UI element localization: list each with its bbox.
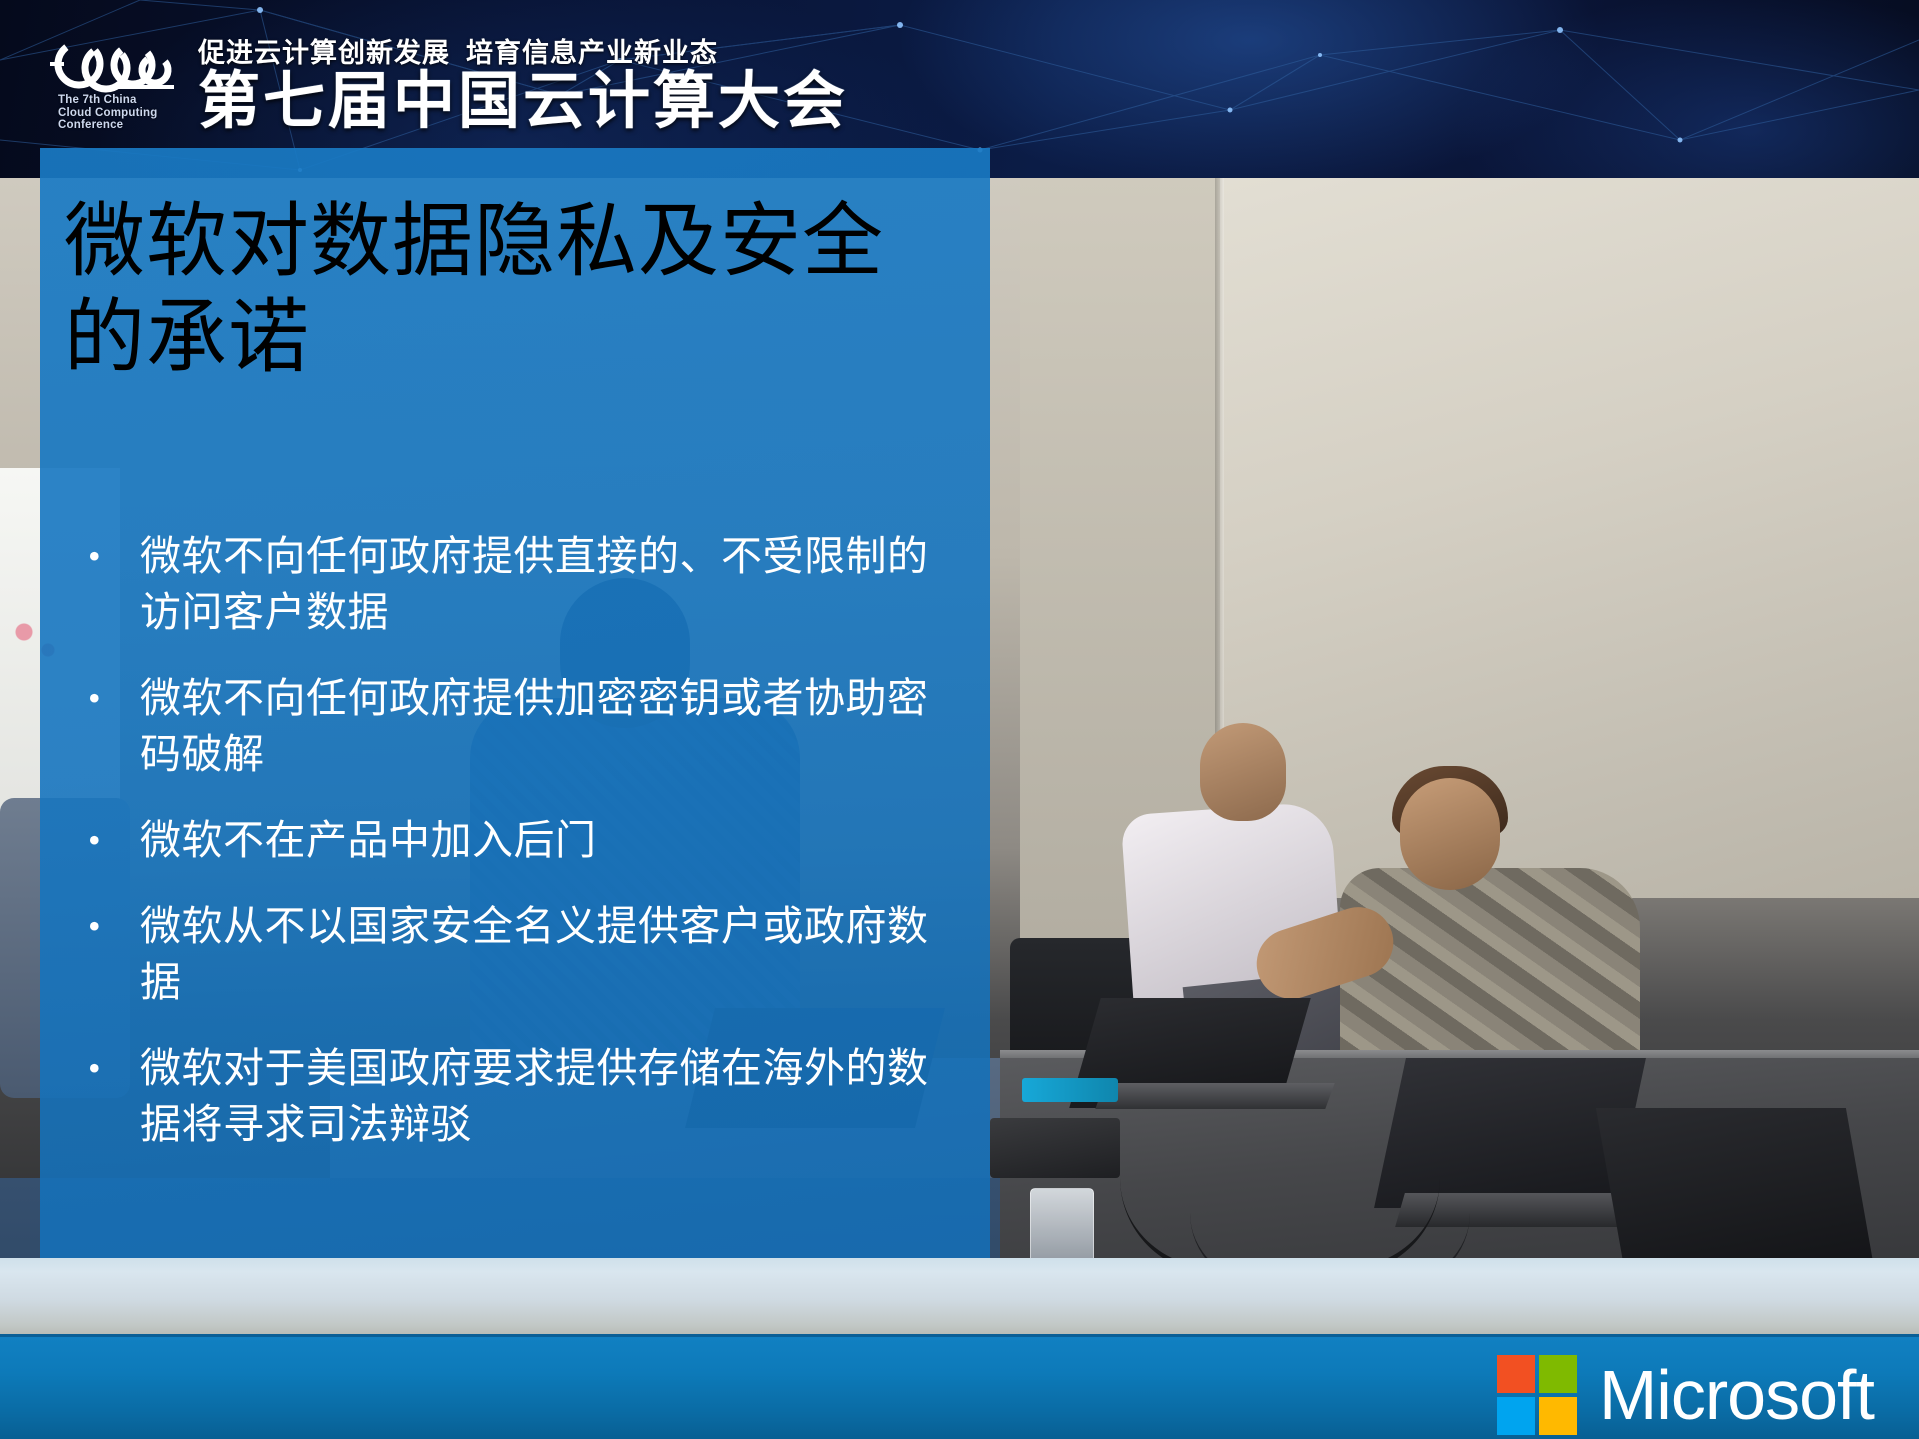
list-item: • 微软不向任何政府提供直接的、不受限制的访问客户数据 [88, 528, 968, 640]
bullet-marker-icon: • [88, 528, 140, 584]
ccc-sub-line-1: The 7th China [58, 94, 157, 107]
photo-teal-folder [1022, 1078, 1118, 1102]
photo-wall-right [1220, 178, 1919, 898]
bullet-text: 微软不在产品中加入后门 [140, 812, 597, 868]
photo-cable-2 [1190, 1213, 1470, 1258]
microsoft-logo: Microsoft [1497, 1355, 1874, 1435]
list-item: • 微软不向任何政府提供加密密钥或者协助密码破解 [88, 670, 968, 782]
microsoft-square-blue [1497, 1397, 1535, 1435]
ccc-sub-line-3: Conference [58, 119, 157, 132]
banner-tagline: 促进云计算创新发展培育信息产业新业态 [198, 38, 848, 68]
ccc-logo-subtitle: The 7th China Cloud Computing Conference [58, 94, 157, 132]
list-item: • 微软对于美国政府要求提供存储在海外的数据将寻求司法辩驳 [88, 1040, 968, 1152]
bullet-marker-icon: • [88, 670, 140, 726]
list-item: • 微软不在产品中加入后门 [88, 812, 968, 868]
microsoft-square-yellow [1539, 1397, 1577, 1435]
photo-seated-man-head [1400, 778, 1500, 890]
bullet-marker-icon: • [88, 812, 140, 868]
photo-standing-man-head [1200, 723, 1286, 821]
banner-content: The 7th China Cloud Computing Conference… [48, 34, 848, 138]
microsoft-squares-icon [1497, 1355, 1577, 1435]
tagline-left: 促进云计算创新发展 [198, 38, 450, 68]
banner-text-block: 促进云计算创新发展培育信息产业新业态 第七届中国云计算大会 [198, 38, 848, 138]
bullet-marker-icon: • [88, 1040, 140, 1096]
bullet-list: • 微软不向任何政府提供直接的、不受限制的访问客户数据 • 微软不向任何政府提供… [88, 528, 968, 1182]
microsoft-square-red [1497, 1355, 1535, 1393]
bullet-text: 微软不向任何政府提供加密密钥或者协助密码破解 [140, 670, 968, 782]
presentation-slide: The 7th China Cloud Computing Conference… [0, 0, 1919, 1439]
tagline-right: 培育信息产业新业态 [466, 38, 718, 68]
content-panel: 微软对数据隐私及安全 的承诺 • 微软不向任何政府提供直接的、不受限制的访问客户… [40, 148, 990, 1263]
photo-water-glass [1030, 1188, 1094, 1258]
slide-title: 微软对数据隐私及安全 的承诺 [64, 194, 964, 386]
bullet-text: 微软对于美国政府要求提供存储在海外的数据将寻求司法辩驳 [140, 1040, 968, 1152]
ccc-sub-line-2: Cloud Computing [58, 107, 157, 120]
ccc-logo-mark: The 7th China Cloud Computing Conference [48, 34, 180, 138]
microsoft-wordmark: Microsoft [1599, 1360, 1874, 1430]
bullet-text: 微软从不以国家安全名义提供客户或政府数据 [140, 898, 968, 1010]
bullet-text: 微软不向任何政府提供直接的、不受限制的访问客户数据 [140, 528, 968, 640]
microsoft-square-green [1539, 1355, 1577, 1393]
photo-desk-box [990, 1118, 1120, 1178]
list-item: • 微软从不以国家安全名义提供客户或政府数据 [88, 898, 968, 1010]
bullet-marker-icon: • [88, 898, 140, 954]
photo-laptop-1-base [1095, 1083, 1334, 1109]
footer-light-band [0, 1258, 1919, 1337]
banner-main-title: 第七届中国云计算大会 [198, 70, 848, 134]
photo-laptop-3 [1596, 1108, 1874, 1258]
